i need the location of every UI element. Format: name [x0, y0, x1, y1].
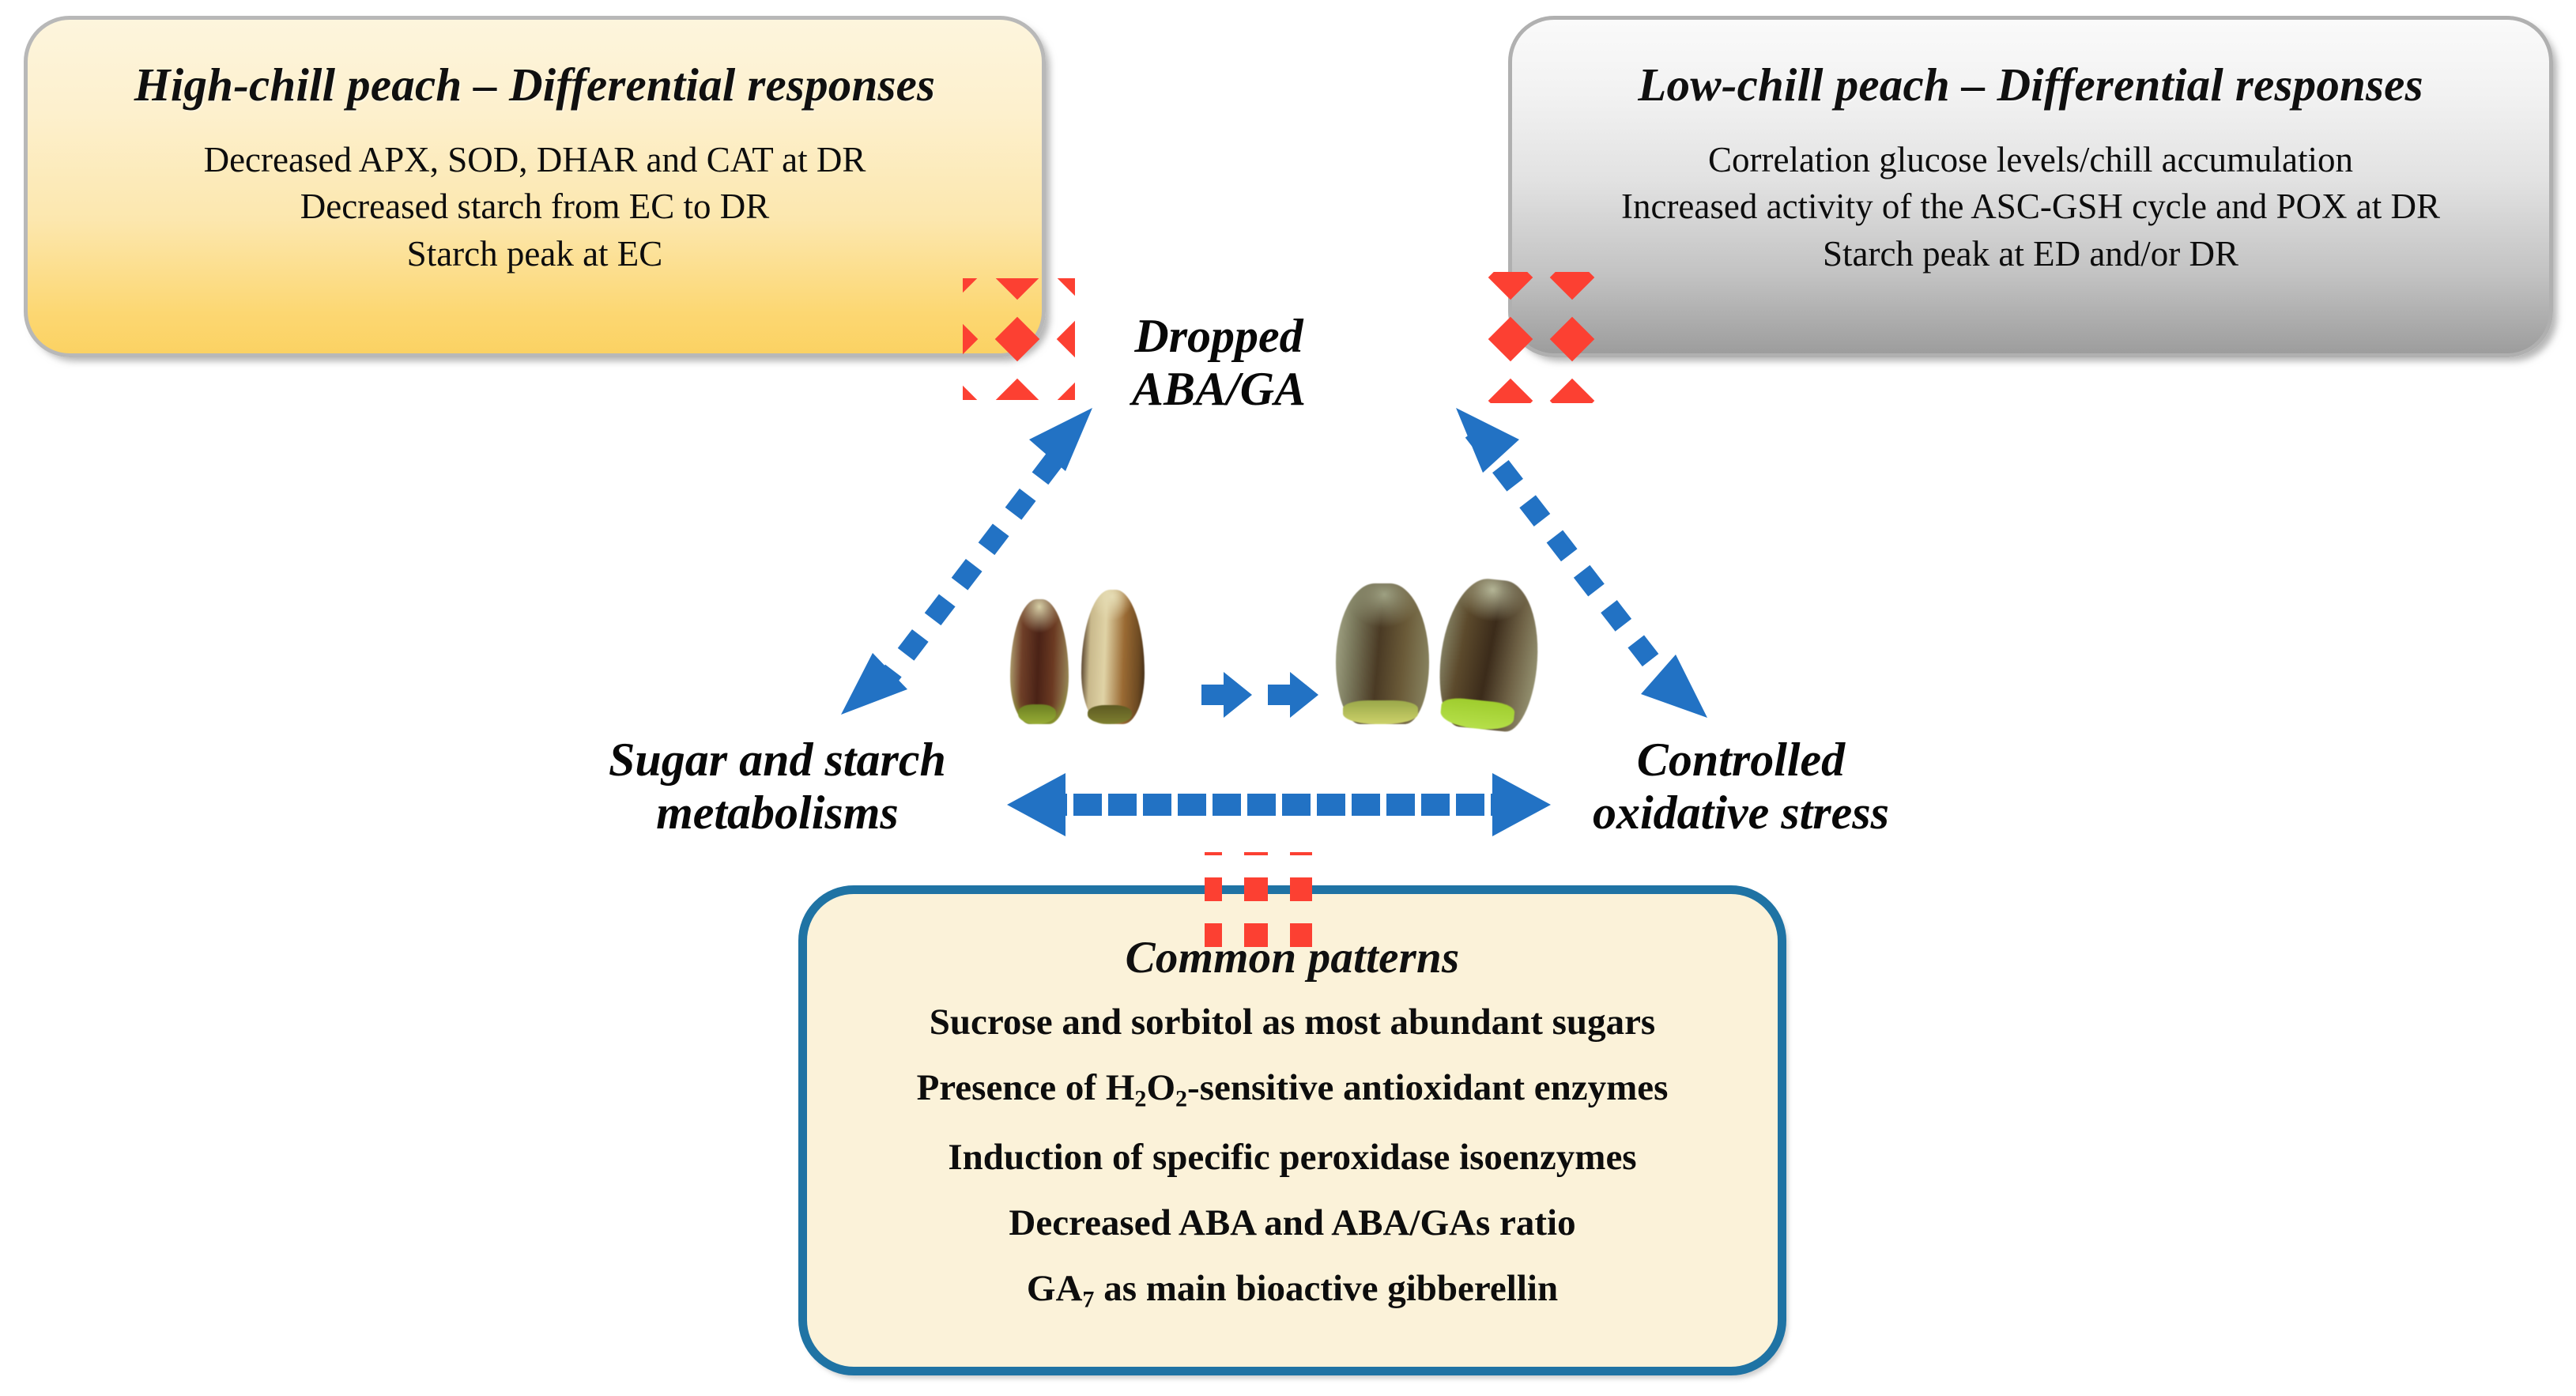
panel-line: Decreased ABA and ABA/GAs ratio	[807, 1205, 1778, 1242]
panel-common-patterns-lines: Sucrose and sorbitol as most abundant su…	[807, 1004, 1778, 1311]
panel-low-chill: Low-chill peach – Differential responses…	[1508, 16, 2553, 357]
node-label-line: ABA/GA	[1132, 363, 1306, 416]
panel-line: GA7 as main bioactive gibberellin	[807, 1270, 1778, 1311]
panel-high-chill-lines: Decreased APX, SOD, DHAR and CAT at DR D…	[28, 137, 1042, 277]
node-label-line: Controlled	[1593, 734, 1889, 787]
node-label-line: Sugar and starch	[609, 734, 946, 787]
panel-line: Decreased APX, SOD, DHAR and CAT at DR	[28, 137, 1042, 183]
panel-low-chill-title: Low-chill peach – Differential responses	[1512, 61, 2549, 110]
panel-high-chill-title: High-chill peach – Differential response…	[28, 61, 1042, 110]
panel-common-patterns: Common patterns Sucrose and sorbitol as …	[798, 885, 1786, 1375]
panel-line: Sucrose and sorbitol as most abundant su…	[807, 1004, 1778, 1041]
swollen-buds-image	[1336, 566, 1533, 724]
panel-line: Correlation glucose levels/chill accumul…	[1512, 137, 2549, 183]
bud-swollen-right	[1434, 575, 1545, 734]
panel-line: Induction of specific peroxidase isoenzy…	[807, 1139, 1778, 1176]
panel-line: Starch peak at ED and/or DR	[1512, 231, 2549, 277]
node-label-dropped-aba-ga: Dropped ABA/GA	[1132, 310, 1306, 416]
node-label-controlled-oxidative-stress: Controlled oxidative stress	[1593, 734, 1889, 839]
bud-dormant-left	[1010, 599, 1069, 724]
node-label-line: metabolisms	[609, 787, 946, 839]
bud-swollen-left	[1336, 583, 1429, 724]
figure-canvas: High-chill peach – Differential response…	[0, 0, 2576, 1396]
connector-bud-progression	[1201, 672, 1318, 718]
dormant-buds-image	[1005, 582, 1179, 724]
panel-line: Starch peak at EC	[28, 231, 1042, 277]
panel-low-chill-lines: Correlation glucose levels/chill accumul…	[1512, 137, 2549, 277]
connector-sugar-to-oxidative	[1007, 773, 1551, 836]
panel-line: Increased activity of the ASC-GSH cycle …	[1512, 183, 2549, 230]
panel-line: Decreased starch from EC to DR	[28, 183, 1042, 230]
node-label-line: oxidative stress	[1593, 787, 1889, 839]
node-label-line: Dropped	[1132, 310, 1306, 363]
panel-common-patterns-title: Common patterns	[807, 935, 1778, 980]
panel-high-chill: High-chill peach – Differential response…	[24, 16, 1046, 357]
bud-dormant-right	[1081, 590, 1145, 724]
node-label-sugar-starch-metabolisms: Sugar and starch metabolisms	[609, 734, 946, 839]
panel-line: Presence of H2O2-sensitive antioxidant e…	[807, 1070, 1778, 1111]
